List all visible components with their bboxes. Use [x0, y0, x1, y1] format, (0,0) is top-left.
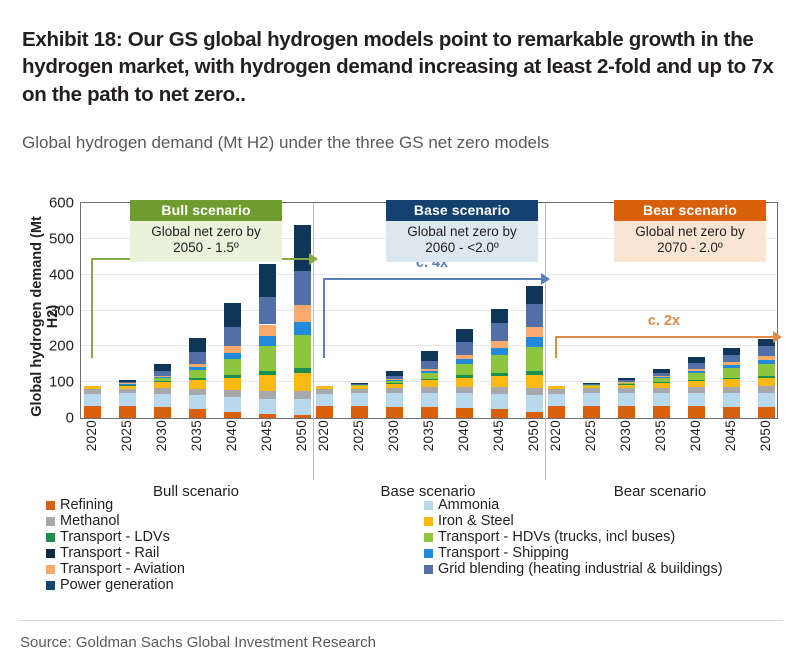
- legend-label: Transport - Aviation: [60, 562, 185, 577]
- y-axis-tick: 100: [49, 374, 74, 391]
- bar-segment: [491, 323, 508, 341]
- x-axis-tick: 2035: [189, 420, 204, 451]
- bar-segment: [688, 373, 705, 380]
- y-axis-tick: 500: [49, 230, 74, 247]
- bar-segment: [154, 381, 171, 382]
- bar-segment: [456, 378, 473, 387]
- bar-segment: [189, 409, 206, 418]
- bar-segment: [723, 387, 740, 393]
- bar-segment: [154, 382, 171, 388]
- x-axis-tick: 2025: [583, 420, 598, 451]
- bar-base-2045: [491, 309, 508, 418]
- x-axis-tick: 2045: [723, 420, 738, 451]
- callout-line1: Global net zero by: [130, 224, 282, 240]
- bar-segment: [688, 406, 705, 418]
- bar-segment: [688, 387, 705, 392]
- arrow-horizontal-leg: [323, 278, 541, 280]
- bar-segment: [351, 385, 368, 388]
- legend-label: Refining: [60, 498, 113, 513]
- bar-segment: [583, 385, 600, 388]
- bar-segment: [723, 378, 740, 379]
- bar-base-2020: [316, 386, 333, 418]
- bar-segment: [294, 373, 311, 391]
- bar-segment: [351, 389, 368, 394]
- bar-segment: [224, 378, 241, 391]
- bar-bear-2025: [583, 383, 600, 418]
- bar-segment: [316, 386, 333, 389]
- x-axis-tick: 2050: [526, 420, 541, 451]
- legend-label: Iron & Steel: [438, 514, 514, 529]
- y-axis-tick: 300: [49, 302, 74, 319]
- arrow-head-icon: [541, 273, 550, 285]
- bar-base-2040: [456, 329, 473, 418]
- legend-swatch-icon: [46, 533, 55, 542]
- bar-segment: [224, 412, 241, 418]
- bar-segment: [421, 371, 438, 373]
- callout-body-bear: Global net zero by2070 - 2.0º: [614, 221, 766, 262]
- bar-bear-2040: [688, 357, 705, 418]
- bar-segment: [421, 380, 438, 387]
- bar-segment: [189, 370, 206, 378]
- bar-segment: [386, 388, 403, 393]
- bar-segment: [224, 397, 241, 412]
- bar-segment: [154, 394, 171, 408]
- bar-segment: [224, 359, 241, 375]
- bar-segment: [84, 386, 101, 389]
- callout-body-base: Global net zero by2060 - <2.0º: [386, 221, 538, 262]
- gridline: [81, 310, 777, 311]
- group-separator: [545, 203, 546, 480]
- legend-swatch-icon: [46, 549, 55, 558]
- bar-segment: [386, 376, 403, 379]
- x-axis-tick: 2045: [259, 420, 274, 451]
- legend-item[interactable]: Refining: [46, 498, 185, 513]
- y-axis-tick: 0: [66, 410, 74, 427]
- bar-segment: [583, 384, 600, 385]
- bar-segment: [526, 375, 543, 388]
- bar-segment: [526, 395, 543, 411]
- x-axis-tick: 2030: [386, 420, 401, 451]
- legend-item[interactable]: Transport - LDVs: [46, 530, 185, 545]
- bar-segment: [688, 393, 705, 407]
- footer-divider: [18, 620, 783, 621]
- exhibit-subtitle: Global hydrogen demand (Mt H2) under the…: [22, 132, 782, 154]
- x-axis-tick: 2035: [421, 420, 436, 451]
- bar-segment: [351, 393, 368, 406]
- bar-bear-2035: [653, 369, 670, 418]
- bar-segment: [119, 406, 136, 418]
- bar-segment: [294, 335, 311, 368]
- bar-segment: [491, 373, 508, 376]
- bar-segment: [119, 384, 136, 385]
- legend-swatch-icon: [424, 565, 433, 574]
- legend-swatch-icon: [424, 517, 433, 526]
- bar-bull-2030: [154, 364, 171, 418]
- bar-segment: [688, 380, 705, 381]
- y-axis-tick: 600: [49, 195, 74, 212]
- bar-segment: [583, 388, 600, 393]
- x-axis-tick: 2045: [491, 420, 506, 451]
- bar-segment: [259, 297, 276, 325]
- bar-segment: [189, 378, 206, 380]
- bar-bull-2025: [119, 380, 136, 418]
- source-note: Source: Goldman Sachs Global Investment …: [20, 634, 376, 651]
- legend-column-left: RefiningMethanolTransport - LDVsTranspor…: [46, 498, 185, 594]
- bar-segment: [758, 378, 775, 387]
- bar-segment: [491, 355, 508, 372]
- bar-segment: [189, 338, 206, 352]
- bar-segment: [456, 364, 473, 375]
- bar-bull-2045: [259, 264, 276, 418]
- bar-segment: [259, 346, 276, 371]
- bar-segment: [526, 412, 543, 418]
- bar-segment: [456, 375, 473, 378]
- bar-segment: [386, 393, 403, 406]
- bar-segment: [526, 388, 543, 395]
- gridline: [81, 274, 777, 275]
- bar-segment: [491, 387, 508, 394]
- bar-segment: [758, 364, 775, 376]
- arrow-vertical-leg: [91, 258, 93, 358]
- bar-segment: [294, 271, 311, 305]
- bar-segment: [154, 407, 171, 418]
- bar-bear-2050: [758, 339, 775, 418]
- gridline: [81, 345, 777, 346]
- legend-item[interactable]: Transport - Shipping: [424, 546, 723, 561]
- callout-line1: Global net zero by: [386, 224, 538, 240]
- legend-swatch-icon: [46, 565, 55, 574]
- bar-segment: [421, 393, 438, 407]
- bar-segment: [294, 368, 311, 373]
- callout-header-base: Base scenario: [386, 200, 538, 221]
- bar-segment: [526, 337, 543, 347]
- bar-segment: [583, 383, 600, 384]
- legend-label: Power generation: [60, 578, 174, 593]
- x-axis-tick: 2040: [688, 420, 703, 451]
- bar-bear-2030: [618, 378, 635, 418]
- bar-segment: [526, 286, 543, 304]
- bar-segment: [259, 399, 276, 415]
- bar-segment: [456, 387, 473, 393]
- bar-segment: [259, 371, 276, 375]
- bar-segment: [758, 386, 775, 392]
- bar-segment: [618, 378, 635, 380]
- bar-segment: [758, 360, 775, 364]
- legend-swatch-icon: [424, 501, 433, 510]
- bar-segment: [653, 378, 670, 382]
- x-axis-tick: 2050: [758, 420, 773, 451]
- bar-segment: [758, 339, 775, 346]
- bar-segment: [316, 389, 333, 393]
- bar-segment: [84, 389, 101, 393]
- legend-swatch-icon: [46, 581, 55, 590]
- bar-base-2050: [526, 286, 543, 418]
- bar-segment: [688, 363, 705, 369]
- bar-segment: [224, 303, 241, 326]
- bar-segment: [688, 369, 705, 371]
- legend-swatch-icon: [424, 549, 433, 558]
- bar-segment: [154, 364, 171, 372]
- bar-segment: [294, 322, 311, 336]
- x-axis-tick: 2025: [119, 420, 134, 451]
- y-axis-tick: 200: [49, 338, 74, 355]
- bar-bull-2035: [189, 338, 206, 418]
- bar-segment: [653, 383, 670, 388]
- bar-segment: [189, 352, 206, 364]
- bar-segment: [154, 388, 171, 393]
- bar-segment: [154, 377, 171, 378]
- bar-segment: [491, 341, 508, 349]
- bar-segment: [386, 371, 403, 376]
- bar-segment: [154, 371, 171, 376]
- x-axis-tick: 2020: [316, 420, 331, 451]
- legend-item[interactable]: Transport - HDVs (trucks, incl buses): [424, 530, 723, 545]
- bar-segment: [618, 388, 635, 393]
- bar-segment: [491, 394, 508, 409]
- chart-area: Global hydrogen demand (Mt H2)0100200300…: [18, 196, 783, 496]
- bar-bull-2040: [224, 303, 241, 418]
- bar-segment: [653, 382, 670, 383]
- arrow-head-icon: [309, 253, 318, 265]
- legend-label: Ammonia: [438, 498, 499, 513]
- bar-segment: [758, 356, 775, 360]
- arrow-vertical-leg: [323, 278, 325, 358]
- bar-segment: [189, 395, 206, 409]
- bar-segment: [294, 391, 311, 399]
- x-axis-tick: 2025: [351, 420, 366, 451]
- bar-bear-2045: [723, 348, 740, 418]
- callout-bear: Bear scenarioGlobal net zero by2070 - 2.…: [614, 200, 766, 262]
- legend-item[interactable]: Grid blending (heating industrial & buil…: [424, 562, 723, 577]
- legend-column-right: AmmoniaIron & SteelTransport - HDVs (tru…: [424, 498, 723, 578]
- bar-segment: [224, 346, 241, 352]
- bar-base-2035: [421, 351, 438, 418]
- legend-label: Transport - HDVs (trucks, incl buses): [438, 530, 675, 545]
- bar-base-2025: [351, 383, 368, 418]
- bar-segment: [491, 409, 508, 418]
- bar-segment: [618, 406, 635, 418]
- legend-swatch-icon: [424, 533, 433, 542]
- bar-segment: [526, 304, 543, 326]
- x-axis-tick: 2040: [456, 420, 471, 451]
- y-axis-tick: 400: [49, 266, 74, 283]
- bar-segment: [316, 406, 333, 418]
- bar-segment: [548, 394, 565, 407]
- bar-bear-2020: [548, 386, 565, 418]
- legend-label: Grid blending (heating industrial & buil…: [438, 562, 723, 577]
- bar-segment: [653, 369, 670, 373]
- bar-segment: [224, 390, 241, 397]
- arrow-horizontal-leg: [555, 336, 773, 338]
- bar-segment: [456, 342, 473, 355]
- legend-label: Transport - LDVs: [60, 530, 170, 545]
- callout-header-bear: Bear scenario: [614, 200, 766, 221]
- bar-segment: [84, 394, 101, 407]
- bar-segment: [154, 376, 171, 377]
- bar-segment: [386, 383, 403, 384]
- bar-bull-2050: [294, 225, 311, 419]
- bar-segment: [119, 385, 136, 389]
- bar-base-2030: [386, 371, 403, 418]
- legend-item[interactable]: Transport - Aviation: [46, 562, 185, 577]
- arrow-vertical-leg: [555, 336, 557, 358]
- bar-segment: [259, 375, 276, 391]
- bar-segment: [758, 346, 775, 355]
- bar-segment: [224, 375, 241, 378]
- legend-item[interactable]: Ammonia: [424, 498, 723, 513]
- bar-segment: [723, 393, 740, 407]
- legend-item[interactable]: Methanol: [46, 514, 185, 529]
- bar-segment: [386, 384, 403, 389]
- bar-segment: [653, 393, 670, 406]
- bar-segment: [119, 389, 136, 394]
- arrow-label: c. 2x: [555, 313, 773, 329]
- bar-segment: [526, 347, 543, 371]
- bar-segment: [723, 362, 740, 365]
- bar-segment: [119, 393, 136, 406]
- legend-label: Transport - Shipping: [438, 546, 569, 561]
- x-axis-tick: 2035: [653, 420, 668, 451]
- bar-segment: [723, 407, 740, 418]
- bar-segment: [653, 373, 670, 377]
- bar-segment: [653, 377, 670, 378]
- x-axis-tick: 2030: [154, 420, 169, 451]
- legend-swatch-icon: [46, 517, 55, 526]
- bar-segment: [351, 406, 368, 418]
- bar-segment: [653, 376, 670, 377]
- callout-line2: 2060 - <2.0º: [386, 240, 538, 256]
- bar-segment: [294, 415, 311, 418]
- bar-segment: [386, 380, 403, 381]
- bar-segment: [456, 329, 473, 342]
- bar-segment: [421, 407, 438, 418]
- bar-segment: [421, 373, 438, 379]
- callout-body-bull: Global net zero by2050 - 1.5º: [130, 221, 282, 262]
- bar-segment: [688, 371, 705, 373]
- bar-segment: [723, 379, 740, 387]
- callout-line1: Global net zero by: [614, 224, 766, 240]
- exhibit-title: Exhibit 18: Our GS global hydrogen model…: [22, 26, 782, 108]
- bar-segment: [548, 389, 565, 393]
- legend-item[interactable]: Power generation: [46, 578, 185, 593]
- x-axis-tick: 2020: [548, 420, 563, 451]
- bar-segment: [316, 394, 333, 407]
- bar-segment: [84, 406, 101, 418]
- bar-segment: [189, 380, 206, 389]
- y-axis-label: Global hydrogen demand (Mt H2): [29, 209, 49, 424]
- chart-legend: RefiningMethanolTransport - LDVsTranspor…: [46, 498, 786, 590]
- x-axis-tick: 2030: [618, 420, 633, 451]
- bar-segment: [491, 376, 508, 387]
- exhibit-container: Exhibit 18: Our GS global hydrogen model…: [0, 0, 801, 667]
- bar-segment: [189, 364, 206, 367]
- bar-segment: [526, 371, 543, 375]
- bar-segment: [119, 380, 136, 382]
- bar-segment: [421, 387, 438, 393]
- callout-line2: 2070 - 2.0º: [614, 240, 766, 256]
- bar-segment: [583, 393, 600, 406]
- bar-segment: [653, 388, 670, 393]
- bar-segment: [723, 348, 740, 354]
- bar-segment: [386, 379, 403, 380]
- callout-header-bull: Bull scenario: [130, 200, 282, 221]
- callout-bull: Bull scenarioGlobal net zero by2050 - 1.…: [130, 200, 282, 262]
- bar-segment: [421, 369, 438, 371]
- bar-segment: [224, 353, 241, 359]
- bar-segment: [259, 391, 276, 399]
- bar-segment: [189, 389, 206, 395]
- bar-segment: [224, 327, 241, 347]
- bar-segment: [491, 309, 508, 323]
- bar-segment: [526, 327, 543, 338]
- callout-base: Base scenarioGlobal net zero by2060 - <2…: [386, 200, 538, 262]
- bar-segment: [618, 383, 635, 384]
- legend-item[interactable]: Transport - Rail: [46, 546, 185, 561]
- legend-item[interactable]: Iron & Steel: [424, 514, 723, 529]
- bar-segment: [456, 408, 473, 418]
- bar-segment: [491, 348, 508, 355]
- bar-segment: [421, 351, 438, 361]
- bar-segment: [456, 355, 473, 359]
- legend-label: Transport - Rail: [60, 546, 159, 561]
- arrow-head-icon: [773, 331, 782, 343]
- callout-line2: 2050 - 1.5º: [130, 240, 282, 256]
- x-axis-tick: 2050: [294, 420, 309, 451]
- bar-segment: [548, 406, 565, 418]
- bar-segment: [723, 365, 740, 368]
- bar-segment: [548, 386, 565, 389]
- legend-label: Methanol: [60, 514, 120, 529]
- bar-segment: [386, 381, 403, 383]
- bar-segment: [119, 382, 136, 383]
- bar-segment: [386, 407, 403, 418]
- bar-segment: [259, 336, 276, 346]
- bar-segment: [259, 325, 276, 336]
- bar-segment: [723, 355, 740, 363]
- bar-segment: [688, 381, 705, 387]
- group-separator: [313, 203, 314, 480]
- bar-segment: [758, 376, 775, 378]
- bar-segment: [456, 393, 473, 408]
- bar-segment: [653, 406, 670, 418]
- x-axis-tick: 2020: [84, 420, 99, 451]
- legend-swatch-icon: [46, 501, 55, 510]
- bar-segment: [456, 359, 473, 363]
- bar-segment: [259, 264, 276, 297]
- bar-bull-2020: [84, 386, 101, 418]
- bar-segment: [259, 414, 276, 418]
- bar-segment: [294, 305, 311, 321]
- bar-segment: [688, 357, 705, 363]
- bar-segment: [154, 378, 171, 381]
- bar-segment: [618, 384, 635, 388]
- bar-segment: [189, 367, 206, 370]
- bar-segment: [421, 361, 438, 369]
- bar-segment: [294, 399, 311, 415]
- bar-segment: [583, 406, 600, 418]
- bar-segment: [421, 379, 438, 380]
- bar-segment: [723, 368, 740, 378]
- bar-segment: [758, 407, 775, 418]
- bar-segment: [758, 393, 775, 407]
- bar-segment: [618, 393, 635, 406]
- x-axis-tick: 2040: [224, 420, 239, 451]
- bar-segment: [618, 380, 635, 382]
